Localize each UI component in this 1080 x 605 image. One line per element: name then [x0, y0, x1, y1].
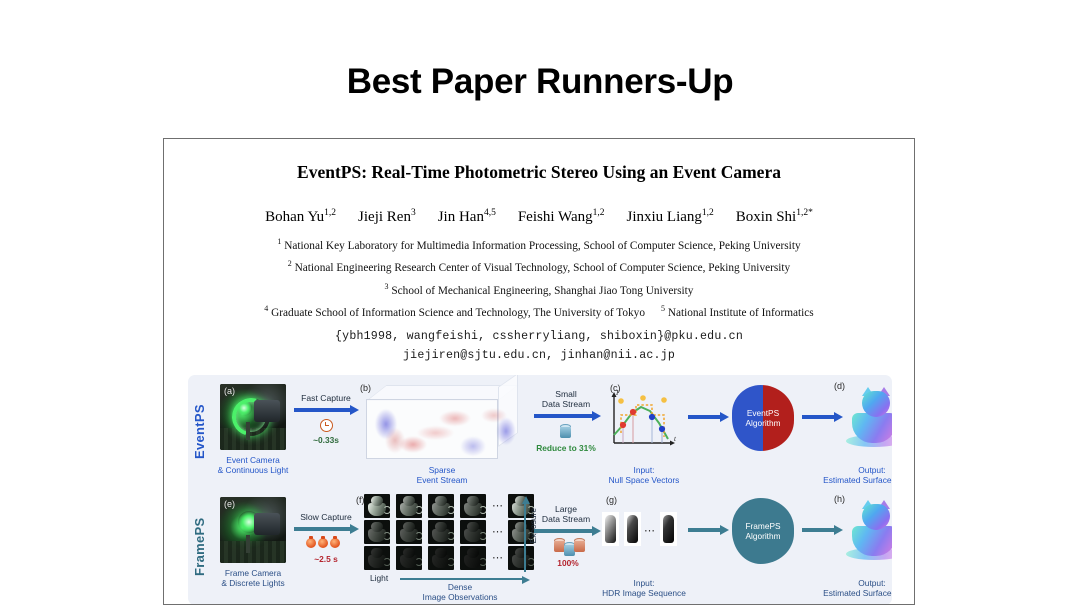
image-thumbnail — [508, 546, 534, 570]
hdr-image-thumbnail — [602, 512, 619, 546]
stream-label-line: Data Stream — [532, 399, 600, 409]
small-data-stream-arrow — [534, 414, 594, 418]
email-line: {ybh1998, wangfeishi, cssherryliang, shi… — [164, 327, 914, 346]
arrow-to-eventps-output — [802, 415, 836, 419]
panel-f-image-grid: ⋯ ⋯ ⋯ — [364, 494, 532, 572]
grid-ellipsis: ⋯ — [492, 551, 504, 564]
caption-line: Image Observations — [396, 592, 524, 602]
camera-body — [254, 513, 280, 535]
event-point-cloud — [368, 401, 518, 459]
light-axis-label: Light — [370, 573, 388, 583]
image-thumbnail — [364, 520, 390, 544]
caption-line: Dense — [396, 582, 524, 592]
panel-c-caption: Input: Null Space Vectors — [594, 465, 694, 486]
panel-d-caption: Output: Estimated Surface Normal — [796, 465, 892, 486]
image-thumbnail — [396, 520, 422, 544]
author-name: Feishi Wang — [518, 209, 593, 225]
algorithm-label-line: Algorithm — [745, 531, 780, 541]
affiliation-text: Graduate School of Information Science a… — [271, 307, 645, 319]
large-data-stream-label: Large Data Stream — [532, 504, 600, 525]
panel-h-caption: Output: Estimated Surface Normal — [796, 578, 892, 599]
image-thumbnail — [428, 494, 454, 518]
algorithm-label-line: EventPS — [747, 408, 779, 418]
null-space-chart: I t — [606, 389, 682, 453]
data-percentage-label: 100% — [544, 558, 592, 568]
panel-tag-a: (a) — [224, 386, 235, 396]
author-affiliation-sup: 1,2 — [593, 208, 605, 218]
optical-bench — [220, 541, 286, 563]
fast-capture-label: Fast Capture — [292, 393, 360, 403]
image-thumbnail — [364, 546, 390, 570]
author-affiliation-sup: 1,2 — [324, 208, 336, 218]
author-name: Boxin Shi — [736, 209, 796, 225]
author-name: Bohan Yu — [265, 209, 324, 225]
mount-post — [246, 535, 250, 553]
caption-line: Frame Camera — [209, 568, 297, 578]
affiliation-line: 2 National Engineering Research Center o… — [164, 255, 914, 277]
camera-body — [254, 400, 280, 422]
image-thumbnail — [396, 494, 422, 518]
slow-capture-label: Slow Capture — [292, 512, 360, 522]
teaser-figure: EventPS (a) Event Camera & Continuous Li… — [188, 375, 892, 605]
panel-tag-e: (e) — [224, 499, 235, 509]
panel-tag-b: (b) — [360, 383, 371, 393]
arrow-to-eventps-algorithm — [688, 415, 722, 419]
panel-tag-g: (g) — [606, 495, 617, 505]
author-affiliation-sup: 1,2* — [796, 208, 813, 218]
figure-row-eventps: EventPS (a) Event Camera & Continuous Li… — [188, 375, 892, 490]
panel-tag-h: (h) — [834, 494, 845, 504]
affiliation-index: 4 — [264, 304, 268, 313]
exposure-axis-arrow — [524, 502, 526, 572]
affiliation-text: National Institute of Informatics — [668, 307, 814, 319]
panel-a-caption: Event Camera & Continuous Light — [209, 455, 297, 476]
algorithm-label-line: Algorithm — [745, 418, 780, 428]
affiliation-line: 4 Graduate School of Information Science… — [164, 300, 914, 322]
db-body — [560, 427, 571, 438]
grid-ellipsis: ⋯ — [492, 499, 504, 512]
caption-line: & Discrete Lights — [209, 578, 297, 588]
frameps-algorithm-node: FramePS Algorithm — [732, 498, 794, 564]
author: Jieji Ren3 — [358, 208, 416, 226]
panel-b-event-stream — [366, 385, 520, 465]
author-name: Jinxiu Liang — [626, 209, 701, 225]
author-name: Jieji Ren — [358, 209, 411, 225]
panel-g-caption: Input: HDR Image Sequence — [588, 578, 700, 599]
affiliation-text: National Engineering Research Center of … — [295, 262, 791, 274]
panel-d-normal-map — [840, 383, 892, 451]
author-name: Jin Han — [438, 209, 484, 225]
caption-line: Event Camera — [209, 455, 297, 465]
panel-tag-f: (f) — [356, 495, 365, 505]
affiliation-index: 3 — [385, 282, 389, 291]
green-light-glow — [236, 400, 252, 416]
affiliation-index: 5 — [661, 304, 665, 313]
image-thumbnail — [460, 546, 486, 570]
affiliation-line: 3 School of Mechanical Engineering, Shan… — [164, 278, 914, 300]
author-affiliation-sup: 4,5 — [484, 208, 496, 218]
author: Bohan Yu1,2 — [265, 208, 336, 226]
light-bulb-icon — [306, 538, 316, 548]
caption-line: Sparse — [396, 465, 488, 475]
author-affiliation-sup: 3 — [411, 208, 416, 218]
mount-post — [246, 422, 250, 440]
caption-line: Estimated Surface Normal — [796, 588, 892, 598]
image-thumbnail — [428, 546, 454, 570]
clock-icon — [320, 419, 333, 432]
author: Boxin Shi1,2* — [736, 208, 813, 226]
panel-tag-d: (d) — [834, 381, 845, 391]
author: Jinxiu Liang1,2 — [626, 208, 713, 226]
image-thumbnail — [460, 520, 486, 544]
figure-row-frameps: FramePS (e) Frame Camera & Discrete Ligh… — [188, 490, 892, 605]
author: Feishi Wang1,2 — [518, 208, 605, 226]
algorithm-label: EventPS Algorithm — [732, 385, 794, 451]
arrow-to-frameps-algorithm — [688, 528, 722, 532]
hdr-image-thumbnail — [660, 512, 677, 546]
slide-heading: Best Paper Runners-Up — [0, 62, 1080, 102]
caption-line: Event Stream — [396, 475, 488, 485]
author-affiliation-sup: 1,2 — [702, 208, 714, 218]
affiliation-index: 2 — [288, 259, 292, 268]
panel-c-null-space-plot: I t — [606, 389, 682, 453]
affiliation-text: National Key Laboratory for Multimedia I… — [284, 240, 800, 252]
slow-capture-arrow — [294, 527, 352, 531]
caption-line: Output: — [796, 465, 892, 475]
caption-line: Estimated Surface Normal — [796, 475, 892, 485]
caption-line: Output: — [796, 578, 892, 588]
small-data-stream-label: Small Data Stream — [532, 389, 600, 410]
svg-text:t: t — [674, 435, 677, 443]
paper-card: EventPS: Real-Time Photometric Stereo Us… — [163, 138, 915, 605]
image-thumbnail — [460, 494, 486, 518]
caption-line: Null Space Vectors — [594, 475, 694, 485]
stream-label-line: Data Stream — [532, 514, 600, 524]
light-axis-arrow — [400, 578, 524, 580]
reduce-to-label: Reduce to 31% — [530, 443, 602, 453]
stream-label-line: Small — [532, 389, 600, 399]
light-bulb-icon — [318, 538, 328, 548]
caption-line: & Continuous Light — [209, 465, 297, 475]
image-thumbnail — [428, 520, 454, 544]
image-thumbnail — [396, 546, 422, 570]
caption-line: Input: — [588, 578, 700, 588]
slow-capture-time: ~2.5 s — [304, 554, 348, 564]
hdr-image-thumbnail — [624, 512, 641, 546]
algorithm-label: FramePS Algorithm — [732, 498, 794, 564]
affiliation-text: School of Mechanical Engineering, Shangh… — [391, 284, 693, 296]
caption-line: Input: — [594, 465, 694, 475]
fast-capture-time: ~0.33s — [306, 435, 346, 445]
database-icon — [574, 538, 585, 553]
algorithm-label-line: FramePS — [745, 521, 780, 531]
affiliation-index: 1 — [277, 237, 281, 246]
email-line: jiejiren@sjtu.edu.cn, jinhan@nii.ac.jp — [164, 346, 914, 365]
fast-capture-arrow — [294, 408, 352, 412]
arrow-to-frameps-output — [802, 528, 836, 532]
hdr-ellipsis: ⋯ — [644, 524, 656, 537]
database-icon — [560, 424, 571, 439]
light-bulb-icon — [330, 538, 340, 548]
panel-e-caption: Frame Camera & Discrete Lights — [209, 568, 297, 589]
large-data-stream-arrow — [534, 529, 594, 533]
panel-f-caption: Dense Image Observations — [396, 582, 524, 603]
image-thumbnail — [364, 494, 390, 518]
stream-label-line: Large — [532, 504, 600, 514]
panel-b-caption: Sparse Event Stream — [396, 465, 488, 486]
panel-tag-c: (c) — [610, 383, 621, 393]
paper-title: EventPS: Real-Time Photometric Stereo Us… — [164, 162, 914, 183]
panel-h-normal-map — [840, 496, 892, 564]
author-list: Bohan Yu1,2Jieji Ren3Jin Han4,5Feishi Wa… — [164, 208, 914, 226]
eventps-algorithm-node: EventPS Algorithm — [732, 385, 794, 451]
author: Jin Han4,5 — [438, 208, 496, 226]
affiliation-line: 1 National Key Laboratory for Multimedia… — [164, 233, 914, 255]
caption-line: HDR Image Sequence — [588, 588, 700, 598]
grid-ellipsis: ⋯ — [492, 525, 504, 538]
